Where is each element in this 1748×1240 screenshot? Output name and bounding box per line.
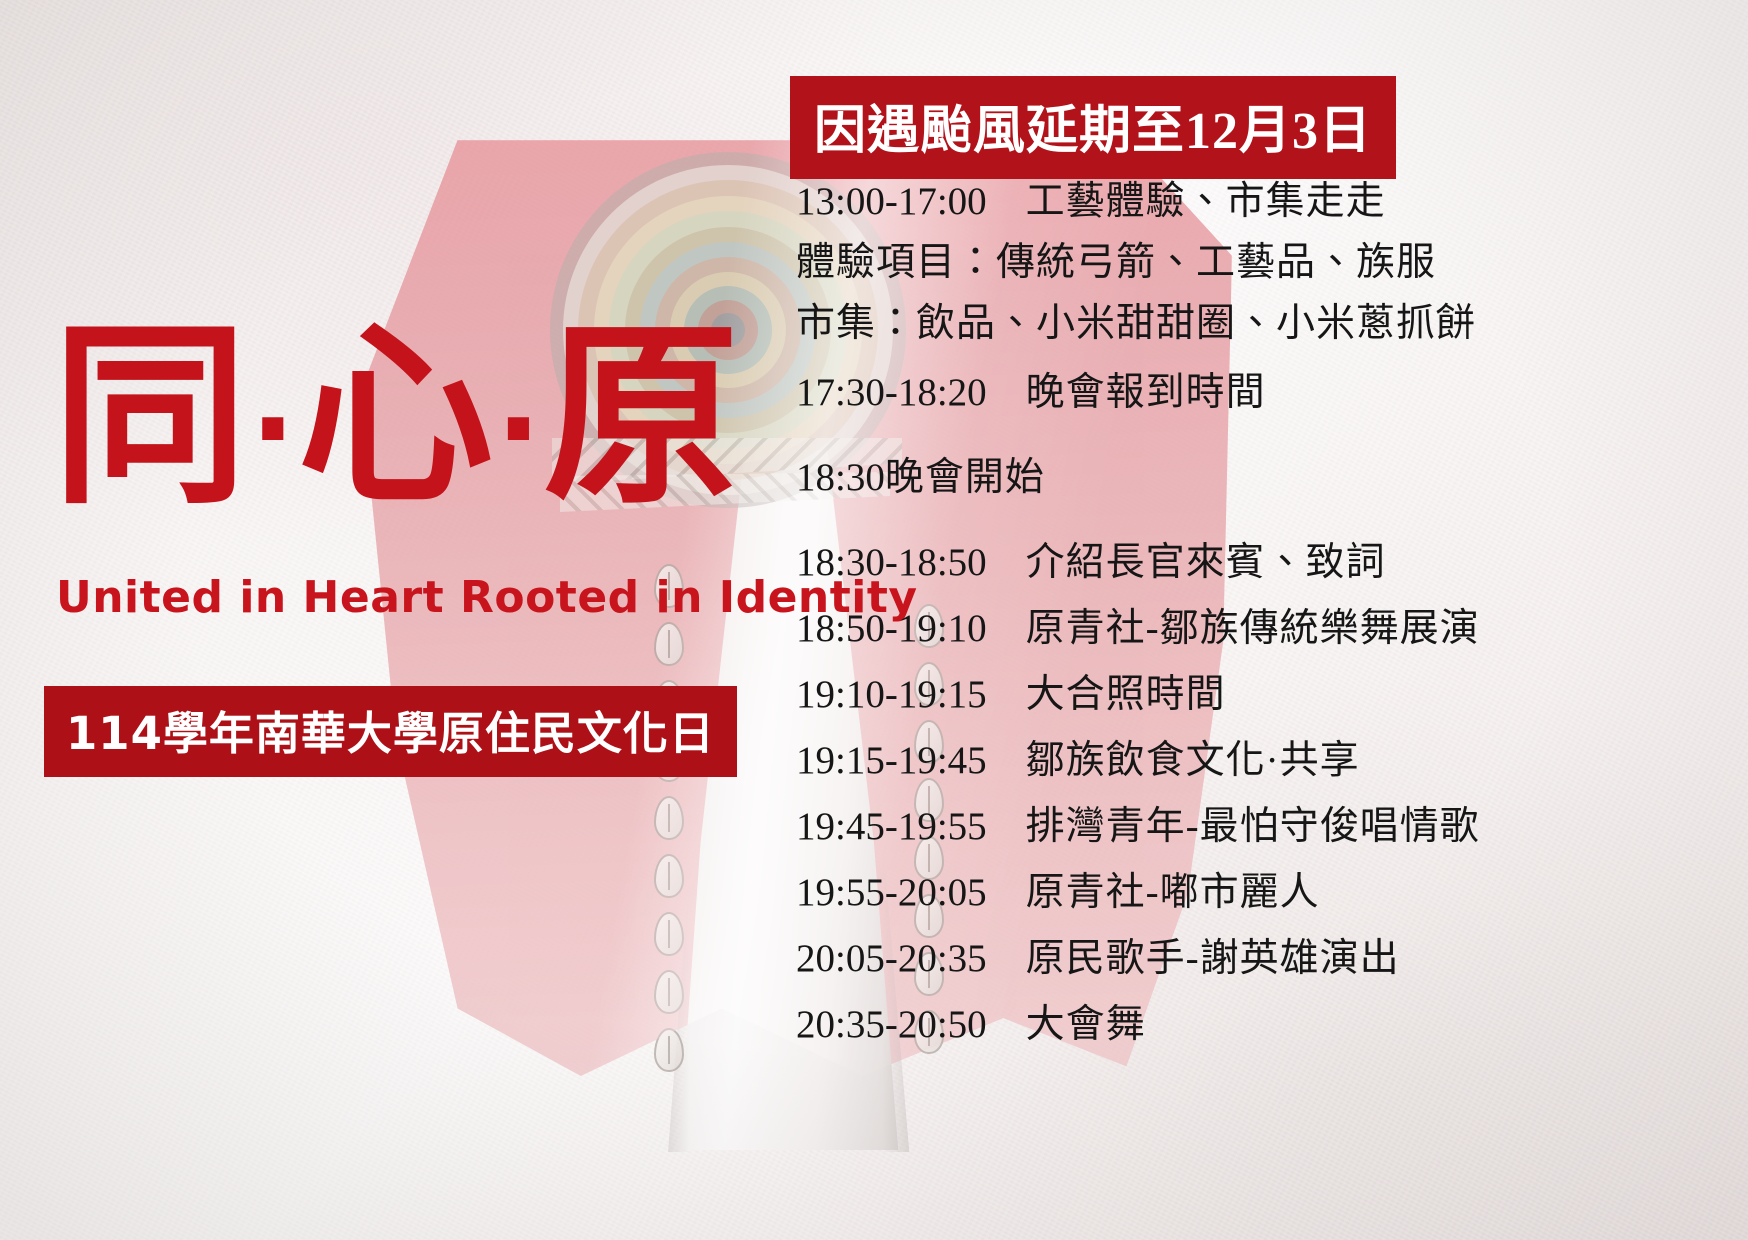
schedule-row-time: 20:05-20:35 bbox=[796, 937, 987, 980]
schedule-row-description: 晚會報到時間 bbox=[1026, 371, 1266, 414]
schedule-row: 18:50-19:10 原青社-鄒族傳統樂舞展演 bbox=[796, 609, 1726, 648]
schedule-row-description: 大合照時間 bbox=[1026, 673, 1226, 716]
schedule-row-time: 19:55-20:05 bbox=[796, 871, 987, 914]
schedule-row-description: 大會舞 bbox=[1026, 1003, 1146, 1046]
schedule-row-description: 原民歌手-謝英雄演出 bbox=[1026, 937, 1400, 980]
schedule-row-gap bbox=[987, 1003, 1026, 1046]
schedule-row-description: 鄒族飲食文化·共享 bbox=[1026, 739, 1360, 782]
event-title-banner: 114學年南華大學原住民文化日 bbox=[44, 686, 737, 777]
schedule-group-start: 18:30晚會開始 bbox=[796, 458, 1726, 497]
schedule-row: 18:30-18:50 介紹長官來賓、致詞 bbox=[796, 543, 1726, 582]
schedule-row-time: 17:30-18:20 bbox=[796, 371, 987, 414]
schedule-row-time: 19:15-19:45 bbox=[796, 739, 987, 782]
schedule-row: 18:30晚會開始 bbox=[796, 458, 1726, 497]
schedule-row: 13:00-17:00 工藝體驗、市集走走 bbox=[796, 182, 1726, 221]
schedule-row-gap bbox=[987, 871, 1026, 914]
schedule-group-program: 18:30-18:50 介紹長官來賓、致詞18:50-19:10 原青社-鄒族傳… bbox=[796, 543, 1726, 1044]
schedule-row: 20:35-20:50 大會舞 bbox=[796, 1005, 1726, 1044]
logotype-char-1: 同 bbox=[52, 303, 250, 531]
event-poster: 同·心·原 United in Heart Rooted in Identity… bbox=[0, 0, 1748, 1240]
logotype-char-2: 心 bbox=[298, 303, 496, 531]
poster-logotype: 同·心·原 bbox=[52, 292, 752, 542]
schedule-row: 19:10-19:15 大合照時間 bbox=[796, 675, 1726, 714]
schedule-row: 20:05-20:35 原民歌手-謝英雄演出 bbox=[796, 939, 1726, 978]
schedule-row-gap bbox=[987, 371, 1026, 414]
schedule-row-description: 介紹長官來賓、致詞 bbox=[1026, 541, 1386, 584]
schedule-row-description: 排灣青年-最怕守俊唱情歌 bbox=[1026, 805, 1480, 848]
schedule-row: 19:55-20:05 原青社-嘟市麗人 bbox=[796, 873, 1726, 912]
schedule-row: 19:15-19:45 鄒族飲食文化·共享 bbox=[796, 741, 1726, 780]
schedule-row-gap bbox=[987, 180, 1026, 223]
schedule-row-description: 原青社-鄒族傳統樂舞展演 bbox=[1026, 607, 1480, 650]
event-schedule: 13:00-17:00 工藝體驗、市集走走體驗項目：傳統弓箭、工藝品、族服市集：… bbox=[796, 182, 1726, 1071]
schedule-row-gap bbox=[987, 937, 1026, 980]
schedule-row-gap bbox=[987, 541, 1026, 584]
schedule-row: 市集：飲品、小米甜甜圈、小米蔥抓餅 bbox=[796, 304, 1726, 343]
schedule-group-checkin: 17:30-18:20 晚會報到時間 bbox=[796, 373, 1726, 412]
schedule-row-time: 19:45-19:55 bbox=[796, 805, 987, 848]
schedule-row: 體驗項目：傳統弓箭、工藝品、族服 bbox=[796, 243, 1726, 282]
schedule-row-time: 18:50-19:10 bbox=[796, 607, 987, 650]
schedule-row-time: 19:10-19:15 bbox=[796, 673, 987, 716]
logotype-dot-2: · bbox=[496, 360, 544, 499]
logotype-char-3: 原 bbox=[543, 303, 741, 531]
schedule-row-time: 18:30-18:50 bbox=[796, 541, 987, 584]
logotype-dot-1: · bbox=[250, 360, 298, 499]
schedule-row-description: 工藝體驗、市集走走 bbox=[1026, 180, 1386, 223]
schedule-row-description: 體驗項目：傳統弓箭、工藝品、族服 bbox=[796, 241, 1436, 284]
schedule-row: 19:45-19:55 排灣青年-最怕守俊唱情歌 bbox=[796, 807, 1726, 846]
schedule-row-gap bbox=[987, 739, 1026, 782]
schedule-row-gap bbox=[987, 673, 1026, 716]
schedule-row-description: 原青社-嘟市麗人 bbox=[1026, 871, 1320, 914]
schedule-row-description: 晚會開始 bbox=[885, 456, 1045, 499]
schedule-row-gap bbox=[987, 607, 1026, 650]
schedule-row-description: 市集：飲品、小米甜甜圈、小米蔥抓餅 bbox=[796, 302, 1476, 345]
schedule-row: 17:30-18:20 晚會報到時間 bbox=[796, 373, 1726, 412]
schedule-row-time: 13:00-17:00 bbox=[796, 180, 987, 223]
english-tagline: United in Heart Rooted in Identity bbox=[56, 572, 816, 623]
schedule-group-daytime: 13:00-17:00 工藝體驗、市集走走體驗項目：傳統弓箭、工藝品、族服市集：… bbox=[796, 182, 1726, 343]
postponement-notice-banner: 因遇颱風延期至12月3日 bbox=[790, 76, 1396, 179]
schedule-row-time: 18:30 bbox=[796, 456, 885, 499]
schedule-row-gap bbox=[987, 805, 1026, 848]
schedule-row-time: 20:35-20:50 bbox=[796, 1003, 987, 1046]
